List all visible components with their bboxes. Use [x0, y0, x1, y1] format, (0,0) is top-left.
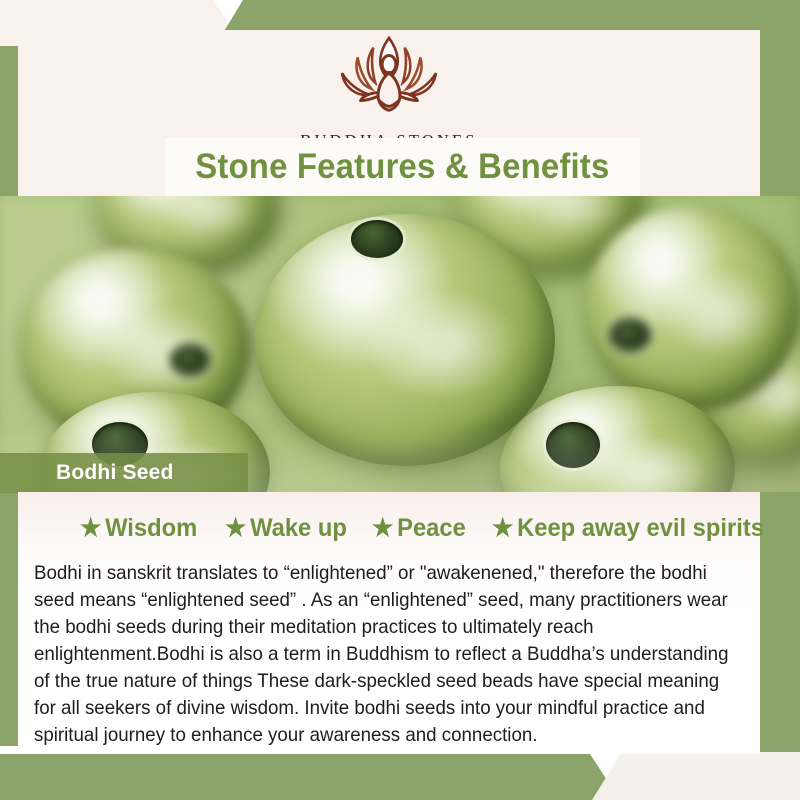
content-section: ★ Wisdom ★ Wake up ★ Peace ★ Keep away e…	[18, 492, 760, 754]
hero-image	[0, 196, 800, 492]
benefit-item-keep-away-evil-spirits: ★ Keep away evil spirits	[492, 514, 764, 543]
page-title-plate: Stone Features & Benefits	[165, 138, 640, 196]
lotus-meditation-icon	[330, 32, 448, 124]
brand-logo: BUDDHA STONES	[18, 32, 760, 151]
benefits-list: ★ Wisdom ★ Wake up ★ Peace ★ Keep away e…	[80, 514, 780, 543]
benefit-item-wake-up: ★ Wake up	[225, 514, 347, 543]
frame-bottom-green-shape	[0, 754, 620, 800]
benefit-item-peace: ★ Peace	[372, 514, 466, 543]
hero-image-vignette	[0, 196, 800, 492]
benefit-label: Peace	[397, 514, 466, 543]
star-icon: ★	[372, 516, 393, 541]
description-block: Bodhi in sanskrit translates to “enlight…	[34, 560, 731, 749]
infographic-page: BUDDHA STONES Stone Features & Benefits …	[0, 0, 800, 800]
star-icon: ★	[80, 516, 101, 541]
benefit-label: Wake up	[251, 514, 348, 543]
benefit-label: Keep away evil spirits	[518, 514, 765, 543]
hero-label-text: Bodhi Seed	[56, 461, 174, 485]
benefit-item-wisdom: ★ Wisdom	[80, 514, 197, 543]
benefit-label: Wisdom	[105, 514, 197, 543]
hero-label-bar: Bodhi Seed	[0, 453, 248, 493]
star-icon: ★	[225, 516, 246, 541]
star-icon: ★	[492, 516, 513, 541]
page-title: Stone Features & Benefits	[195, 147, 609, 187]
description-paragraph: Bodhi in sanskrit translates to “enlight…	[34, 560, 731, 749]
